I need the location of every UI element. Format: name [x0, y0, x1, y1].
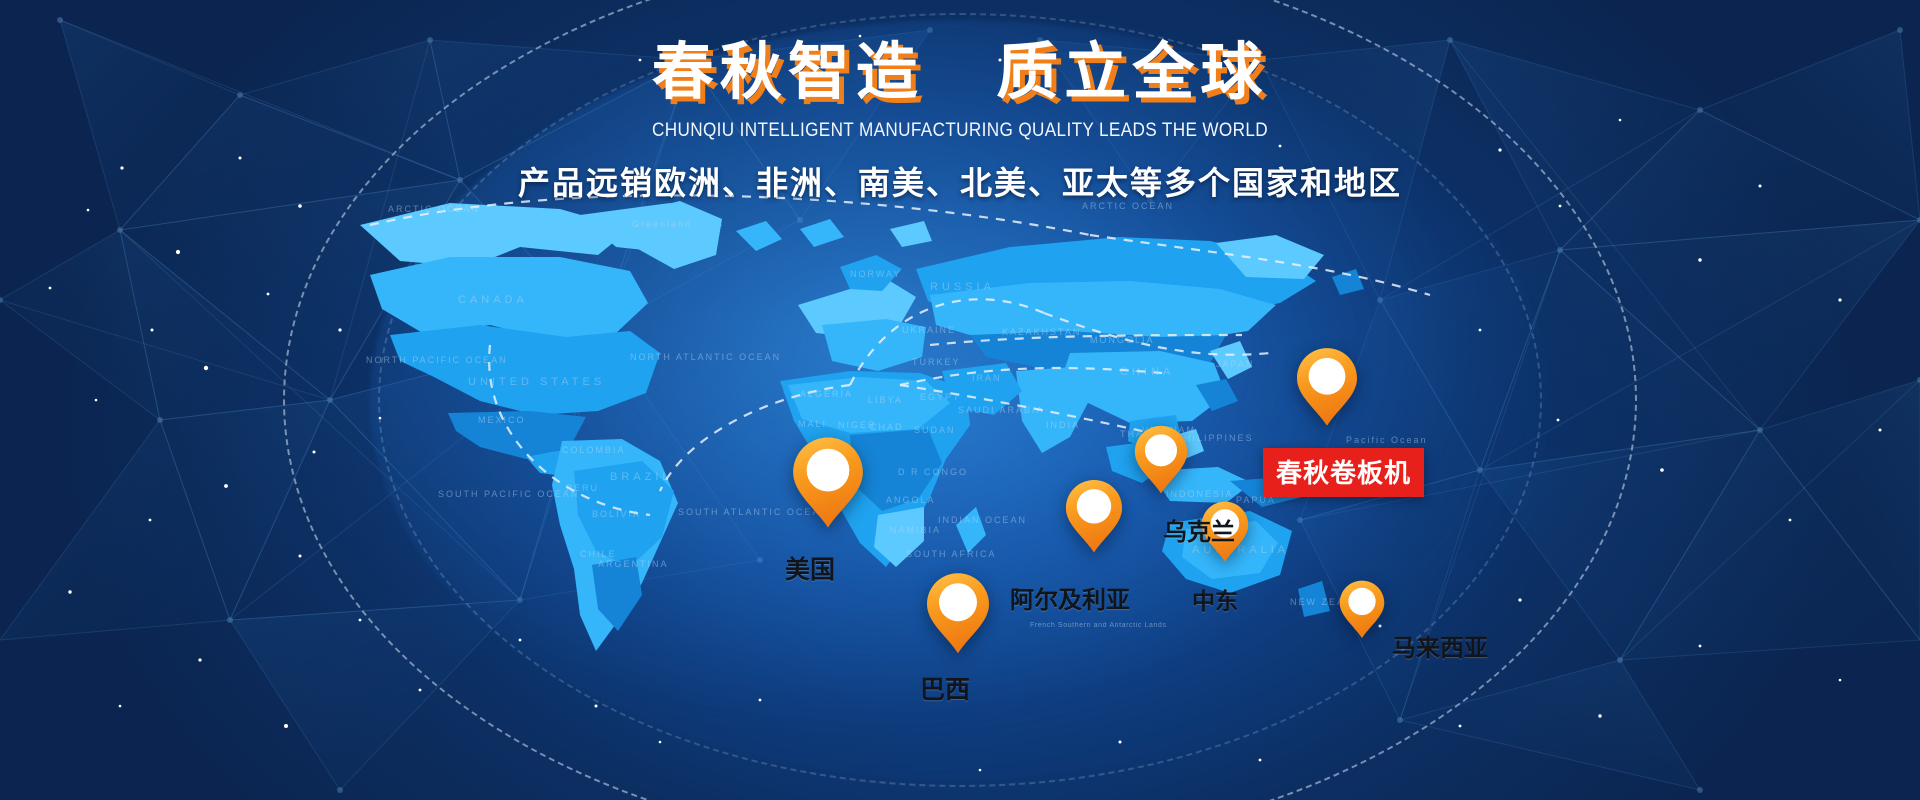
map-pin-label-usa: 美国 [785, 550, 835, 586]
map-pin-label-middleeast: 中东 [1192, 582, 1238, 616]
banner-stage: ARCTIC OCEANARCTIC OCEANNORTH PACIFIC OC… [0, 0, 1920, 800]
product-badge[interactable]: 春秋卷板机 [1263, 448, 1424, 497]
location-pin-icon [792, 435, 864, 530]
map-pin-russia[interactable] [1296, 346, 1358, 428]
location-pin-icon [926, 571, 990, 655]
map-pin-brazil[interactable] [926, 571, 990, 655]
map-pin-label-malaysia: 马来西亚 [1392, 628, 1488, 663]
location-pin-icon [1339, 579, 1385, 640]
location-pin-icon [1296, 346, 1358, 428]
map-pin-label-brazil: 巴西 [920, 670, 970, 706]
map-pin-usa[interactable] [792, 435, 864, 530]
location-pin-icon [1065, 478, 1123, 555]
map-pin-label-ukraine: 乌克兰 [1163, 512, 1235, 547]
map-pin-ukraine[interactable] [1134, 424, 1188, 495]
map-pin-label-algeria: 阿尔及利亚 [1010, 580, 1130, 615]
map-pin-malaysia[interactable] [1339, 579, 1385, 640]
map-pin-algeria[interactable] [1065, 478, 1123, 555]
map-marker-layer: 美国巴西阿尔及利亚乌克兰中东俄罗斯马来西亚 [0, 0, 1920, 800]
location-pin-icon [1134, 424, 1188, 495]
